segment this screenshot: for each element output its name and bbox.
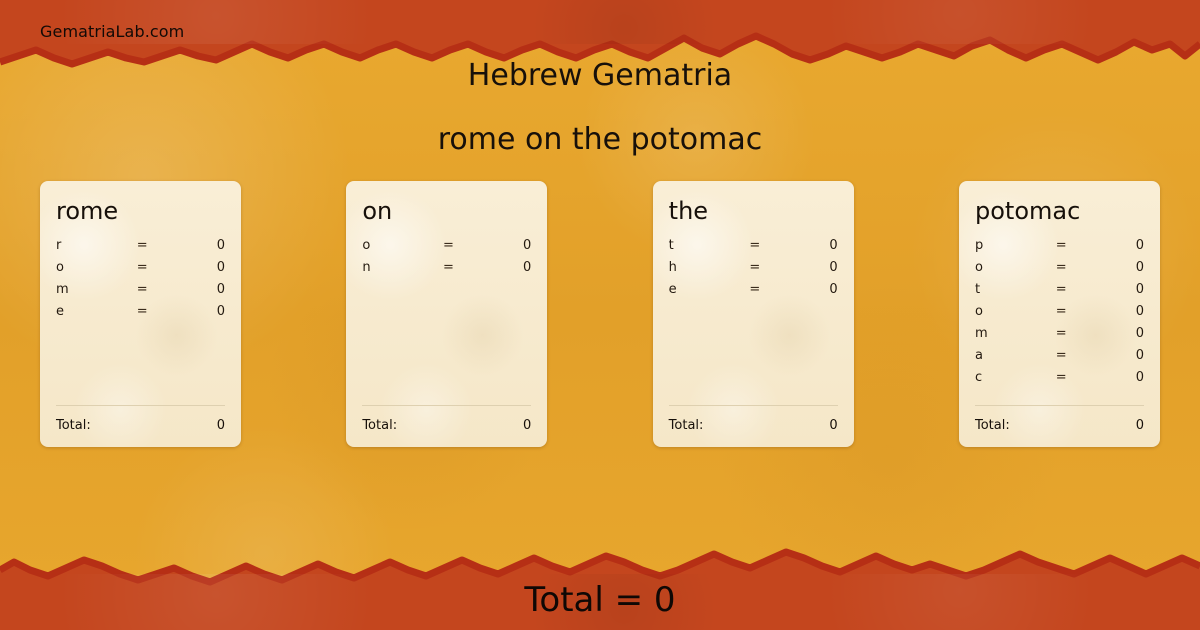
equals-sign: = (1036, 370, 1087, 385)
letter-glyph: e (56, 304, 117, 319)
equals-sign: = (729, 282, 780, 297)
equals-sign: = (1036, 282, 1087, 297)
letter-rows: o=0n=0 (362, 238, 531, 401)
letter-row: n=0 (362, 260, 531, 282)
letter-value: 0 (1087, 282, 1144, 297)
letter-rows: r=0o=0m=0e=0 (56, 238, 225, 401)
equals-sign: = (1036, 260, 1087, 275)
word-card: romer=0o=0m=0e=0Total:0 (40, 181, 241, 447)
equals-sign: = (117, 260, 168, 275)
card-total-value: 0 (829, 418, 837, 433)
letter-row: o=0 (975, 260, 1144, 282)
word-card-title: the (669, 199, 838, 224)
letter-glyph: t (669, 238, 730, 253)
letter-value: 0 (168, 260, 225, 275)
equals-sign: = (1036, 326, 1087, 341)
letter-value: 0 (1087, 326, 1144, 341)
letter-value: 0 (168, 282, 225, 297)
letter-glyph: p (975, 238, 1036, 253)
letter-glyph: o (56, 260, 117, 275)
letter-rows: p=0o=0t=0o=0m=0a=0c=0 (975, 238, 1144, 401)
letter-glyph: r (56, 238, 117, 253)
card-total-value: 0 (1136, 418, 1144, 433)
letter-row: t=0 (975, 282, 1144, 304)
letter-row: e=0 (669, 282, 838, 304)
card-total-row: Total:0 (669, 418, 838, 433)
letter-value: 0 (474, 260, 531, 275)
card-total-row: Total:0 (56, 418, 225, 433)
card-divider (362, 405, 531, 406)
letter-row: o=0 (56, 260, 225, 282)
letter-row: c=0 (975, 370, 1144, 392)
equals-sign: = (729, 260, 780, 275)
card-divider (669, 405, 838, 406)
word-card-title: potomac (975, 199, 1144, 224)
letter-glyph: o (975, 304, 1036, 319)
letter-rows: t=0h=0e=0 (669, 238, 838, 401)
letter-glyph: o (975, 260, 1036, 275)
card-total-value: 0 (217, 418, 225, 433)
letter-glyph: o (362, 238, 423, 253)
letter-value: 0 (168, 238, 225, 253)
word-card: ono=0n=0Total:0 (346, 181, 547, 447)
letter-row: o=0 (362, 238, 531, 260)
equals-sign: = (729, 238, 780, 253)
letter-value: 0 (1087, 304, 1144, 319)
word-card-title: on (362, 199, 531, 224)
grand-total: Total = 0 (0, 580, 1200, 620)
word-card: potomacp=0o=0t=0o=0m=0a=0c=0Total:0 (959, 181, 1160, 447)
letter-row: a=0 (975, 348, 1144, 370)
letter-value: 0 (1087, 260, 1144, 275)
letter-row: r=0 (56, 238, 225, 260)
letter-glyph: c (975, 370, 1036, 385)
word-card-title: rome (56, 199, 225, 224)
word-cards-container: romer=0o=0m=0e=0Total:0ono=0n=0Total:0th… (40, 181, 1160, 447)
letter-glyph: m (56, 282, 117, 297)
letter-value: 0 (1087, 370, 1144, 385)
equals-sign: = (423, 260, 474, 275)
letter-row: m=0 (975, 326, 1144, 348)
letter-value: 0 (474, 238, 531, 253)
equals-sign: = (117, 238, 168, 253)
letter-glyph: m (975, 326, 1036, 341)
letter-value: 0 (1087, 348, 1144, 363)
letter-value: 0 (1087, 238, 1144, 253)
equals-sign: = (423, 238, 474, 253)
equals-sign: = (1036, 238, 1087, 253)
letter-glyph: t (975, 282, 1036, 297)
letter-row: o=0 (975, 304, 1144, 326)
letter-glyph: e (669, 282, 730, 297)
letter-row: h=0 (669, 260, 838, 282)
letter-row: p=0 (975, 238, 1144, 260)
card-total-label: Total: (362, 418, 523, 433)
card-total-value: 0 (523, 418, 531, 433)
query-phrase: rome on the potomac (0, 122, 1200, 157)
letter-value: 0 (780, 282, 837, 297)
word-card: thet=0h=0e=0Total:0 (653, 181, 854, 447)
page-title: Hebrew Gematria (0, 58, 1200, 93)
card-total-row: Total:0 (975, 418, 1144, 433)
letter-glyph: a (975, 348, 1036, 363)
equals-sign: = (1036, 348, 1087, 363)
letter-value: 0 (780, 260, 837, 275)
gematria-result-card: GematriaLab.com Hebrew Gematria rome on … (0, 0, 1200, 630)
letter-glyph: n (362, 260, 423, 275)
card-total-label: Total: (975, 418, 1136, 433)
letter-glyph: h (669, 260, 730, 275)
card-total-row: Total:0 (362, 418, 531, 433)
card-divider (975, 405, 1144, 406)
card-total-label: Total: (669, 418, 830, 433)
letter-row: e=0 (56, 304, 225, 326)
card-total-label: Total: (56, 418, 217, 433)
letter-row: m=0 (56, 282, 225, 304)
letter-value: 0 (168, 304, 225, 319)
equals-sign: = (117, 304, 168, 319)
equals-sign: = (1036, 304, 1087, 319)
letter-value: 0 (780, 238, 837, 253)
site-logo[interactable]: GematriaLab.com (40, 22, 184, 41)
equals-sign: = (117, 282, 168, 297)
card-divider (56, 405, 225, 406)
letter-row: t=0 (669, 238, 838, 260)
